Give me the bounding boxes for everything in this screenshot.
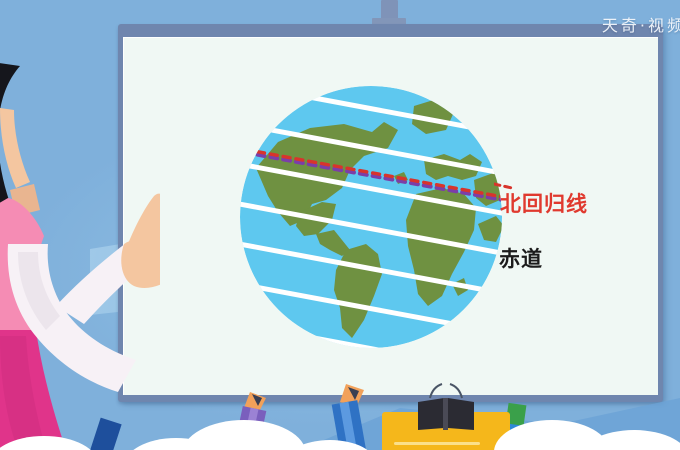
watermark-text: 天奇·视频 <box>602 12 680 36</box>
label-equator: 赤道 <box>499 243 543 273</box>
label-tropic-of-cancer: 北回归线 <box>500 188 588 218</box>
presenter-face <box>0 108 30 188</box>
deco-pencil-navy <box>88 418 121 450</box>
bottom-decoration <box>0 380 680 450</box>
scene-stage: 北回归线 赤道 <box>0 0 680 450</box>
presenter-hand <box>121 194 160 288</box>
globe-diagram <box>238 84 504 350</box>
deco-open-book <box>418 384 474 430</box>
